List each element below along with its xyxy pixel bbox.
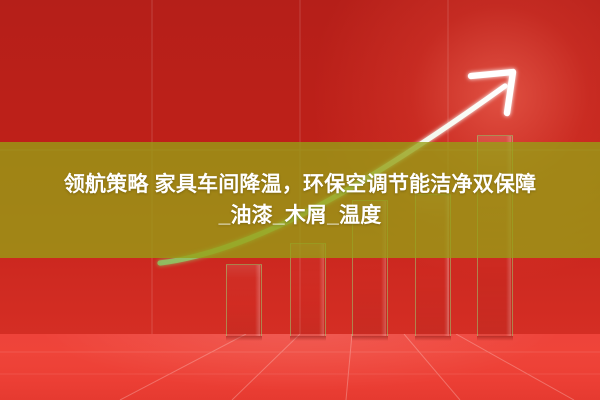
bar-1: [226, 264, 262, 336]
bar-shadow: [226, 336, 263, 341]
caption-text-block: 领航策略 家具车间降温，环保空调节能洁净双保障 _油漆_木屑_温度: [0, 169, 600, 231]
caption-line-2: _油漆_木屑_温度: [6, 200, 594, 231]
caption-band: 领航策略 家具车间降温，环保空调节能洁净双保障 _油漆_木屑_温度: [0, 142, 600, 258]
banner-image: 领航策略 家具车间降温，环保空调节能洁净双保障 _油漆_木屑_温度: [0, 0, 600, 400]
bar-shadow: [415, 336, 452, 341]
caption-line-1: 领航策略 家具车间降温，环保空调节能洁净双保障: [6, 169, 594, 200]
bar-shadow: [477, 336, 514, 341]
bar-shadow: [290, 336, 327, 341]
bar-shadow: [352, 336, 389, 341]
bar-highlight: [255, 265, 260, 336]
